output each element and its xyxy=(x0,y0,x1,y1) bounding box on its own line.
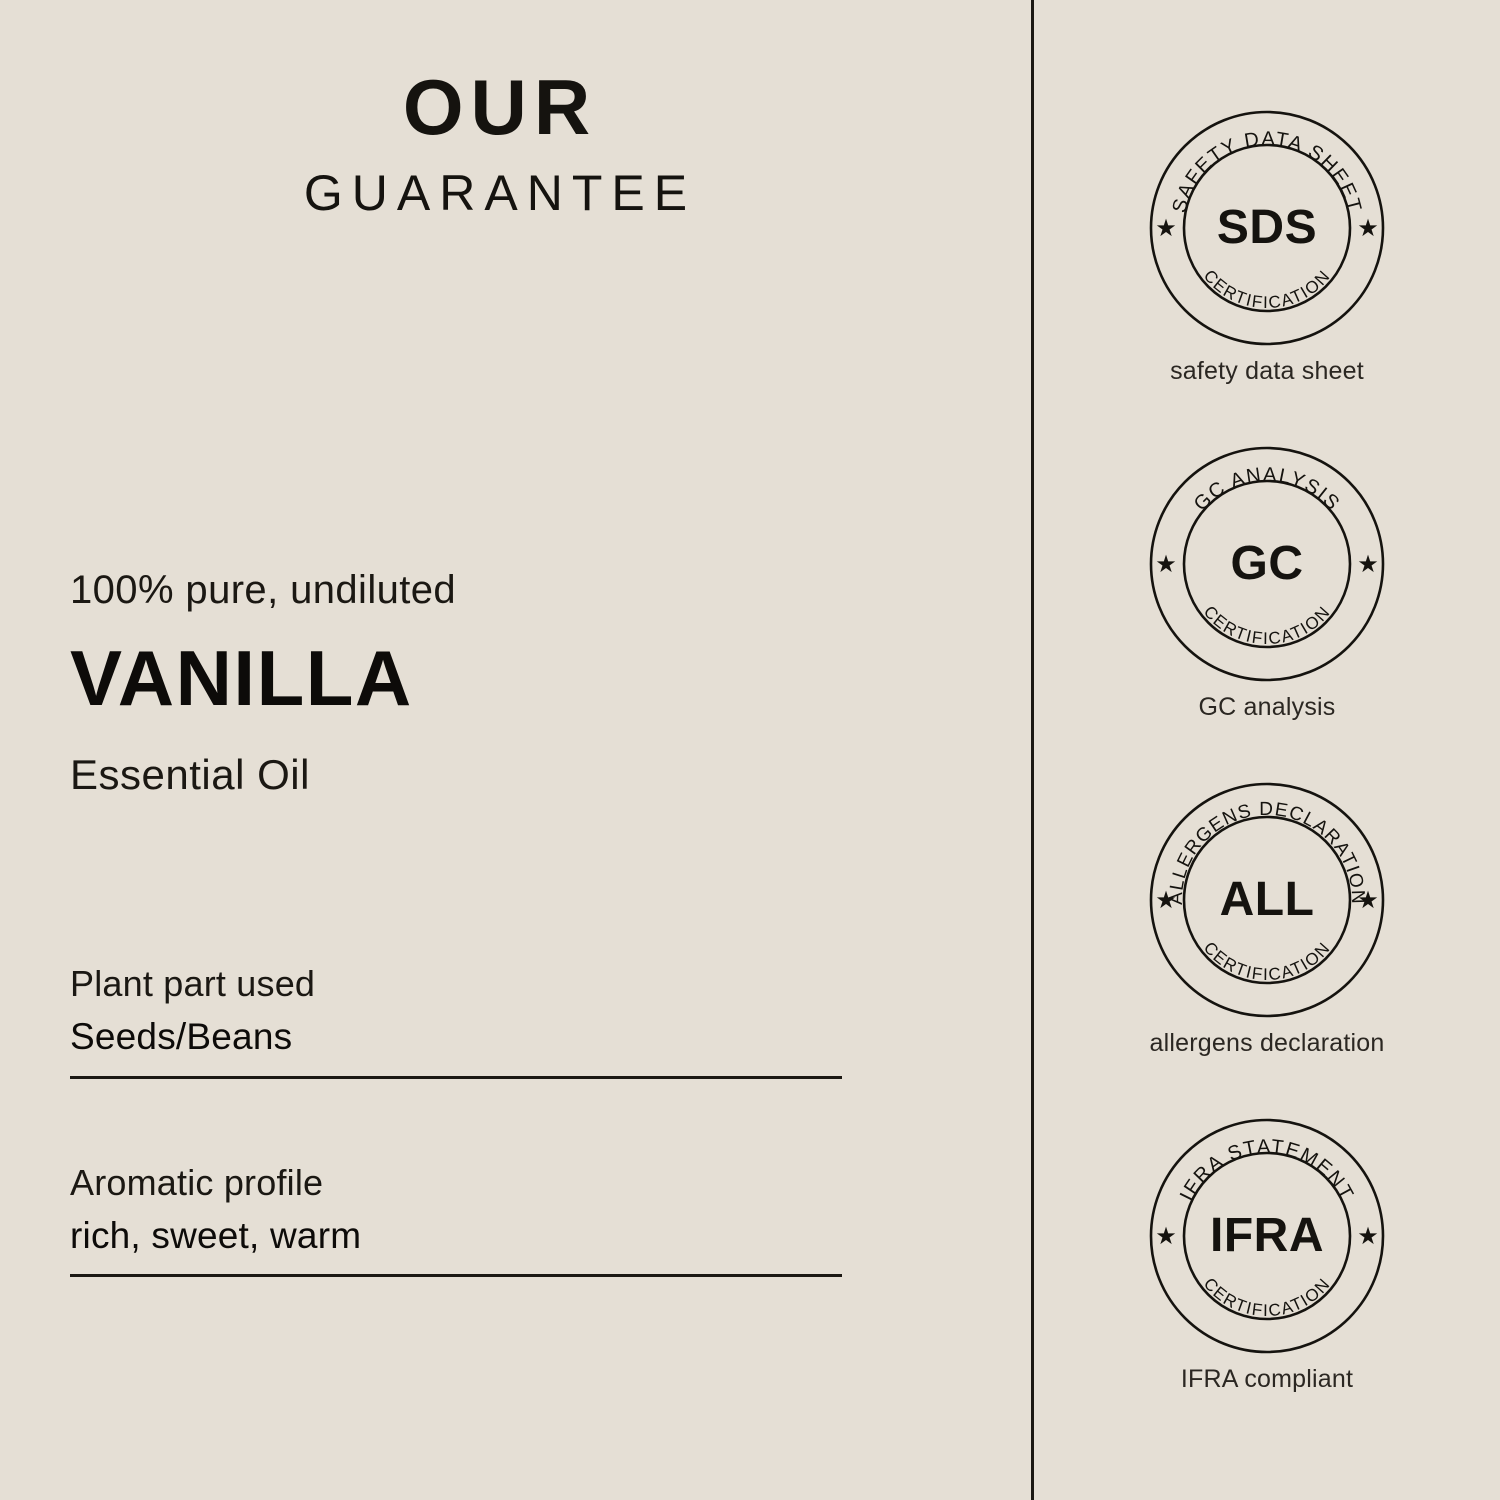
page-title-line2: GUARANTEE xyxy=(0,168,1000,218)
left-panel: OUR GUARANTEE 100% pure, undiluted VANIL… xyxy=(0,0,1031,1500)
badge-left-star-icon: ★ xyxy=(1155,551,1177,578)
product-name: VANILLA xyxy=(70,638,870,720)
badge-right-star-icon: ★ xyxy=(1357,1223,1379,1250)
svg-text:CERTIFICATION: CERTIFICATION xyxy=(1200,602,1335,648)
badge-center-text: SDS xyxy=(1217,201,1317,254)
badge-gc-analysis: GC ANALYSIS CERTIFICATION ★ ★ GC GC anal… xyxy=(1034,446,1500,722)
badge-center-text: IFRA xyxy=(1210,1209,1324,1262)
product-purity-text: 100% pure, undiluted xyxy=(70,568,870,612)
badge-center-text: GC xyxy=(1231,537,1304,590)
attribute-row-plant-part: Plant part used Seeds/Beans xyxy=(70,962,842,1079)
badge-left-star-icon: ★ xyxy=(1155,215,1177,242)
badge-right-star-icon: ★ xyxy=(1357,215,1379,242)
badge-bottom-text: CERTIFICATION xyxy=(1200,602,1335,648)
badge-bottom-text: CERTIFICATION xyxy=(1200,938,1335,984)
attribute-row-aromatic-profile: Aromatic profile rich, sweet, warm xyxy=(70,1161,842,1278)
badge-seal-icon: SAFETY DATA SHEET CERTIFICATION ★ ★ SDS xyxy=(1149,110,1385,346)
product-type: Essential Oil xyxy=(70,752,870,798)
badge-left-star-icon: ★ xyxy=(1155,1223,1177,1250)
badge-right-star-icon: ★ xyxy=(1357,551,1379,578)
attribute-label: Aromatic profile xyxy=(70,1161,842,1204)
attribute-value: Seeds/Beans xyxy=(70,1015,842,1059)
page-title-block: OUR GUARANTEE xyxy=(0,68,1000,218)
svg-text:IFRA STATEMENT: IFRA STATEMENT xyxy=(1176,1136,1358,1205)
attribute-divider xyxy=(70,1274,842,1277)
svg-text:CERTIFICATION: CERTIFICATION xyxy=(1200,938,1335,984)
attribute-list: Plant part used Seeds/Beans Aromatic pro… xyxy=(70,962,842,1277)
badge-bottom-text: CERTIFICATION xyxy=(1200,1274,1335,1320)
badge-ifra-statement: IFRA STATEMENT CERTIFICATION ★ ★ IFRA IF… xyxy=(1034,1118,1500,1394)
svg-text:GC ANALYSIS: GC ANALYSIS xyxy=(1190,464,1345,516)
page-title-line1: OUR xyxy=(0,68,1000,146)
badge-caption: allergens declaration xyxy=(1034,1028,1500,1058)
badge-right-star-icon: ★ xyxy=(1357,887,1379,914)
badge-seal-icon: IFRA STATEMENT CERTIFICATION ★ ★ IFRA xyxy=(1149,1118,1385,1354)
badge-allergens-declaration: ALLERGENS DECLARATION CERTIFICATION ★ ★ … xyxy=(1034,782,1500,1058)
attribute-divider xyxy=(70,1076,842,1079)
certification-badges-panel: SAFETY DATA SHEET CERTIFICATION ★ ★ SDS … xyxy=(1034,0,1500,1500)
badge-seal-icon: GC ANALYSIS CERTIFICATION ★ ★ GC xyxy=(1149,446,1385,682)
attribute-value: rich, sweet, warm xyxy=(70,1214,842,1258)
badge-caption: IFRA compliant xyxy=(1034,1364,1500,1394)
badge-caption: GC analysis xyxy=(1034,692,1500,722)
attribute-label: Plant part used xyxy=(70,962,842,1005)
svg-text:CERTIFICATION: CERTIFICATION xyxy=(1200,1274,1335,1320)
badge-top-text: IFRA STATEMENT xyxy=(1176,1136,1358,1205)
badge-safety-data-sheet: SAFETY DATA SHEET CERTIFICATION ★ ★ SDS … xyxy=(1034,110,1500,386)
svg-text:CERTIFICATION: CERTIFICATION xyxy=(1200,266,1335,312)
badge-left-star-icon: ★ xyxy=(1155,887,1177,914)
badge-bottom-text: CERTIFICATION xyxy=(1200,266,1335,312)
badge-top-text: GC ANALYSIS xyxy=(1190,464,1345,516)
badge-caption: safety data sheet xyxy=(1034,356,1500,386)
badge-center-text: ALL xyxy=(1220,873,1315,926)
product-block: 100% pure, undiluted VANILLA Essential O… xyxy=(70,568,870,798)
guarantee-infographic: OUR GUARANTEE 100% pure, undiluted VANIL… xyxy=(0,0,1500,1500)
badge-seal-icon: ALLERGENS DECLARATION CERTIFICATION ★ ★ … xyxy=(1149,782,1385,1018)
